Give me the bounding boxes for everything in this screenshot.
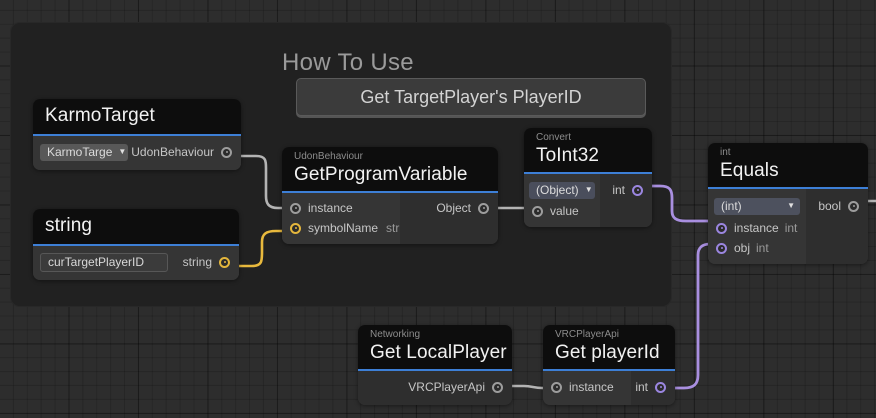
node-get-player-id[interactable]: VRCPlayerApi Get playerId instance int (543, 325, 675, 405)
node-subtitle: UdonBehaviour (294, 151, 488, 163)
node-title: Get playerId (555, 341, 665, 364)
node-subtitle: Networking (370, 329, 502, 341)
port-icon-udonbehaviour-out[interactable] (221, 147, 232, 158)
get-target-player-playerid-button[interactable]: Get TargetPlayer's PlayerID (296, 78, 646, 116)
node-get-local-player[interactable]: Networking Get LocalPlayer VRCPlayerApi (358, 325, 512, 405)
node-field-row: curTargetPlayerID (33, 252, 168, 272)
output-label: Object (436, 201, 471, 215)
object-cast-dropdown[interactable]: (Object) ▼ (529, 182, 595, 199)
port-icon-bool-out[interactable] (848, 201, 859, 212)
node-inputs: curTargetPlayerID (33, 246, 168, 280)
node-subtitle: VRCPlayerApi (555, 329, 665, 341)
node-title: GetProgramVariable (294, 163, 488, 186)
node-karmo-target[interactable]: KarmoTarget KarmoTarge ▼ UdonBehaviour (33, 99, 241, 170)
node-outputs: int (600, 174, 652, 227)
node-title: ToInt32 (536, 144, 642, 167)
node-body: VRCPlayerApi (358, 371, 512, 405)
group-title: How To Use (282, 49, 414, 77)
node-header: int Equals (708, 143, 868, 187)
node-outputs: bool (806, 189, 868, 264)
input-type: int (756, 241, 769, 255)
port-icon-string-out[interactable] (219, 257, 230, 268)
node-subtitle: Convert (536, 132, 642, 144)
input-row-instance[interactable]: instance (282, 198, 400, 218)
node-header: VRCPlayerApi Get playerId (543, 325, 675, 369)
node-field-row: (Object) ▼ (524, 179, 600, 201)
output-label: bool (818, 199, 841, 213)
node-to-int32[interactable]: Convert ToInt32 (Object) ▼ value int (524, 128, 652, 227)
node-body: instance int (543, 371, 675, 405)
output-label: int (612, 183, 625, 197)
output-row-vrcplayerapi[interactable]: VRCPlayerApi (408, 377, 512, 397)
output-label: VRCPlayerApi (408, 380, 485, 394)
node-header: string (33, 209, 239, 244)
node-get-program-variable[interactable]: UdonBehaviour GetProgramVariable instanc… (282, 147, 498, 244)
node-graph-canvas[interactable]: How To Use Get TargetPlayer's PlayerID K… (0, 0, 876, 418)
node-title: KarmoTarget (45, 103, 231, 129)
output-label: string (183, 255, 212, 269)
node-body: KarmoTarge ▼ UdonBehaviour (33, 136, 241, 170)
input-row-instance[interactable]: instance int (708, 218, 806, 238)
input-row-symbolname[interactable]: symbolName string (282, 218, 400, 238)
input-row-value[interactable]: value (524, 201, 600, 221)
input-label: obj (734, 241, 750, 255)
port-icon-obj-in[interactable] (716, 243, 727, 254)
node-inputs: (Object) ▼ value (524, 174, 600, 227)
node-inputs: KarmoTarge ▼ (33, 136, 128, 170)
node-outputs: int (631, 371, 675, 405)
dropdown-value: (int) (721, 199, 742, 213)
node-body: curTargetPlayerID string (33, 246, 239, 280)
input-type: int (785, 221, 798, 235)
output-row-int[interactable]: int (635, 377, 675, 397)
output-row-int[interactable]: int (612, 179, 652, 201)
node-inputs: instance symbolName string (282, 193, 400, 244)
output-row-udonbehaviour[interactable]: UdonBehaviour (131, 142, 241, 162)
node-string-variable[interactable]: string curTargetPlayerID string (33, 209, 239, 280)
port-icon-object-out[interactable] (478, 203, 489, 214)
textfield-value: curTargetPlayerID (48, 255, 144, 269)
node-body: (Object) ▼ value int (524, 174, 652, 227)
node-title: Get LocalPlayer (370, 341, 502, 364)
input-label: instance (569, 380, 614, 394)
node-outputs: Object (400, 193, 498, 244)
node-inputs: instance (543, 371, 631, 405)
port-icon-vrcplayerapi-out[interactable] (492, 382, 503, 393)
dropdown-value: KarmoTarge (47, 145, 112, 159)
node-subtitle: int (720, 147, 858, 159)
input-label: instance (734, 221, 779, 235)
output-label: int (635, 380, 648, 394)
cur-target-playerid-input[interactable]: curTargetPlayerID (40, 253, 168, 272)
node-title: Equals (720, 159, 858, 182)
chevron-down-icon: ▼ (787, 202, 795, 210)
node-outputs: UdonBehaviour (128, 136, 241, 170)
input-label: value (550, 204, 579, 218)
port-icon-instance-in[interactable] (290, 203, 301, 214)
node-outputs: string (168, 246, 239, 280)
port-icon-symbolname-in[interactable] (290, 223, 301, 234)
output-row-object[interactable]: Object (436, 198, 498, 218)
input-label: instance (308, 201, 353, 215)
chevron-down-icon: ▼ (585, 186, 593, 194)
output-row-string[interactable]: string (183, 252, 239, 272)
node-header: UdonBehaviour GetProgramVariable (282, 147, 498, 191)
port-icon-instance-in[interactable] (551, 382, 562, 393)
node-header: Convert ToInt32 (524, 128, 652, 172)
karmo-target-dropdown[interactable]: KarmoTarge ▼ (40, 144, 128, 161)
input-row-instance[interactable]: instance (543, 377, 631, 397)
node-inputs: (int) ▼ instance int obj int (708, 189, 806, 264)
node-field-row: (int) ▼ (708, 194, 806, 218)
int-cast-dropdown[interactable]: (int) ▼ (714, 198, 800, 215)
port-icon-value-in[interactable] (532, 206, 543, 217)
node-header: KarmoTarget (33, 99, 241, 134)
port-icon-int-out[interactable] (632, 185, 643, 196)
node-body: instance symbolName string Object (282, 193, 498, 244)
output-row-bool[interactable]: bool (818, 194, 868, 218)
chevron-down-icon: ▼ (118, 148, 126, 156)
node-body: (int) ▼ instance int obj int bool (708, 189, 868, 264)
output-label: UdonBehaviour (131, 145, 214, 159)
node-outputs: VRCPlayerApi (358, 371, 512, 405)
port-icon-instance-in[interactable] (716, 223, 727, 234)
node-equals[interactable]: int Equals (int) ▼ instance int (708, 143, 868, 264)
input-label: symbolName (308, 221, 378, 235)
node-header: Networking Get LocalPlayer (358, 325, 512, 369)
node-field-row: KarmoTarge ▼ (33, 142, 128, 162)
dropdown-value: (Object) (536, 183, 579, 197)
node-title: string (45, 213, 229, 239)
port-icon-int-out[interactable] (655, 382, 666, 393)
input-row-obj[interactable]: obj int (708, 238, 806, 258)
